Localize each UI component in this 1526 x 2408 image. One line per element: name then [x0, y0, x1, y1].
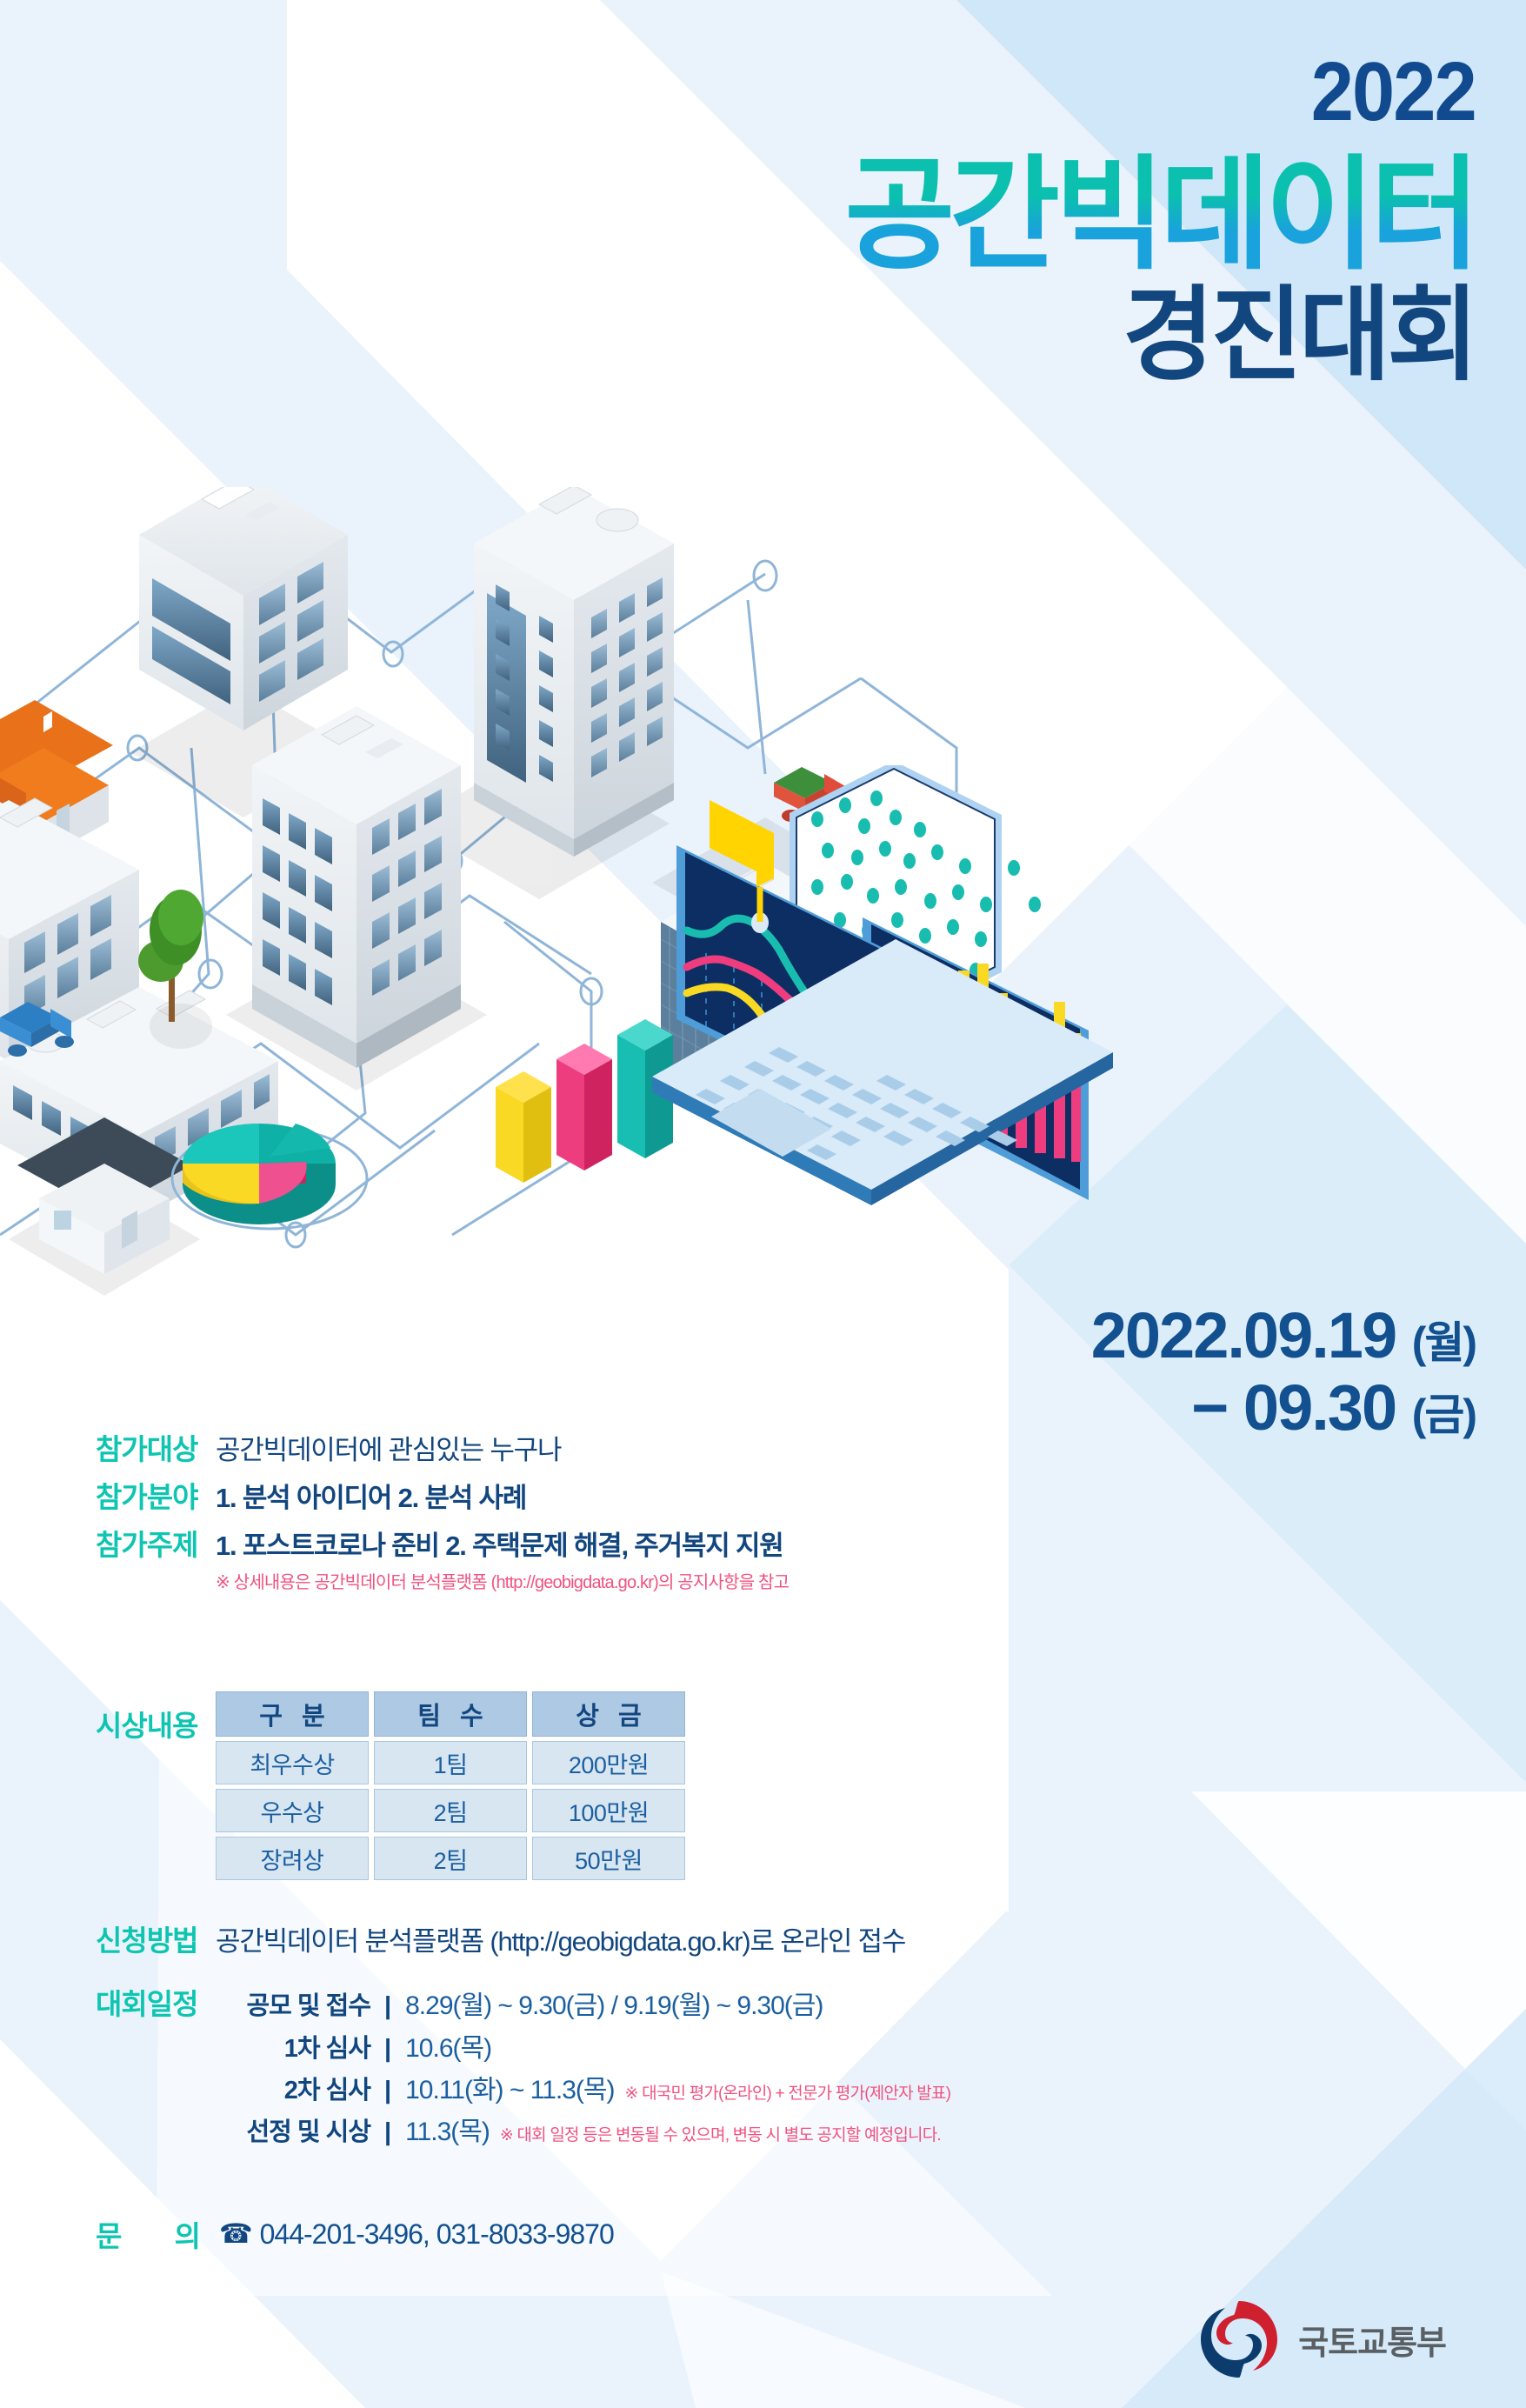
prize-col-teams: 팀 수: [374, 1691, 527, 1737]
schedule-label-text: 대회일정: [96, 1981, 197, 2023]
event-date-start-value: 2022.09.19: [1091, 1299, 1396, 1371]
schedule-key-4: 선정 및 시상: [216, 2111, 370, 2148]
ministry-name: 국토교통부: [1298, 2316, 1446, 2364]
prize-cell-category: 우수상: [216, 1789, 369, 1832]
prize-label: 시상내용: [96, 1687, 200, 1744]
prize-cell-teams: 2팀: [374, 1837, 527, 1880]
prize-cell-category: 장려상: [216, 1837, 369, 1880]
info-row-apply: 신청방법 공간빅데이터 분석플랫폼 (http://geobigdata.go.…: [0, 1918, 1526, 1959]
info-value-apply: 공간빅데이터 분석플랫폼 (http://geobigdata.go.kr)로 …: [216, 1919, 905, 1958]
schedule-divider-3: |: [384, 2077, 391, 2105]
schedule-note-4: ※ 대회 일정 등은 변동될 수 있으며, 변동 시 별도 공지할 예정입니다.: [500, 2122, 941, 2145]
prize-cell-amount: 200만원: [532, 1741, 685, 1784]
info-label-apply: 신청방법: [96, 1918, 200, 1959]
info-label-topic: 참가주제: [96, 1522, 200, 1564]
event-date-block: 2022.09.19 (월) − 09.30 (금): [1091, 1300, 1476, 1444]
schedule-key-1: 공모 및 접수: [216, 1985, 370, 2022]
table-row: 우수상 2팀 100만원: [216, 1789, 685, 1832]
schedule-label: 대회일정: [96, 1981, 200, 2023]
poster-title-sub: 경진대회: [845, 283, 1476, 390]
prize-cell-amount: 100만원: [532, 1789, 685, 1832]
schedule-row-1: 대회일정 공모 및 접수 | 8.29(월) ~ 9.30(금) / 9.19(…: [0, 1981, 950, 2023]
office-building-left: [139, 487, 348, 730]
schedule-section: 대회일정 공모 및 접수 | 8.29(월) ~ 9.30(금) / 9.19(…: [0, 1981, 950, 2151]
schedule-value-1: 8.29(월) ~ 9.30(금) / 9.19(월) ~ 9.30(금): [405, 1984, 823, 2022]
contact-section: 문 의 ☎ 044-201-3496, 031-8033-9870: [0, 2213, 614, 2255]
prize-col-category: 구 분: [216, 1691, 369, 1737]
title-block: 2022 공간빅데이터 경진대회: [825, 50, 1476, 390]
contact-label-char-2: 의: [175, 2213, 200, 2255]
info-value-audience: 공간빅데이터에 관심있는 누구나: [216, 1428, 561, 1467]
poster-title-main: 공간빅데이터: [845, 153, 1476, 279]
year-label: 2022: [877, 50, 1476, 134]
korea-government-taegeuk-logo: [1196, 2296, 1283, 2383]
schedule-value-4: 11.3(목): [405, 2110, 490, 2148]
event-date-start-dow: (월): [1412, 1318, 1476, 1367]
contact-phone-numbers: 044-201-3496, 031-8033-9870: [260, 2218, 614, 2251]
prize-cell-teams: 1팀: [374, 1741, 527, 1784]
prize-table-header-row: 구 분 팀 수 상 금: [216, 1691, 685, 1737]
prize-table: 구 분 팀 수 상 금 최우수상 1팀 200만원 우수상 2팀 100만원 장…: [210, 1687, 690, 1884]
table-row: 장려상 2팀 50만원: [216, 1837, 685, 1880]
info-label-apply-text: 신청방법: [96, 1918, 197, 1959]
schedule-row-4: 선정 및 시상 | 11.3(목) ※ 대회 일정 등은 변동될 수 있으며, …: [0, 2110, 950, 2148]
schedule-value-2: 10.6(목): [405, 2026, 491, 2064]
info-value-topic: 1. 포스트코로나 준비 2. 주택문제 해결, 주거복지 지원: [216, 1524, 783, 1563]
poster-canvas: 2022 공간빅데이터 경진대회 2022.09.19 (월) − 09.30 …: [0, 0, 1526, 2408]
schedule-row-3: 2차 심사 | 10.11(화) ~ 11.3(목) ※ 대국민 평가(온라인)…: [0, 2068, 950, 2106]
telephone-icon: ☎: [219, 2218, 253, 2250]
info-row-audience: 참가대상 공간빅데이터에 관심있는 누구나: [0, 1426, 1526, 1468]
event-date-start: 2022.09.19 (월): [1091, 1300, 1476, 1372]
info-label-field-text: 참가분야: [96, 1474, 197, 1516]
pie-chart-3d: [172, 1124, 367, 1229]
center-building: [252, 706, 461, 1068]
info-label-topic-text: 참가주제: [96, 1522, 197, 1564]
schedule-divider-4: |: [384, 2118, 391, 2147]
apply-section: 신청방법 공간빅데이터 분석플랫폼 (http://geobigdata.go.…: [0, 1918, 1526, 1965]
info-note-topic: ※ 상세내용은 공간빅데이터 분석플랫폼 (http://geobigdata.…: [216, 1568, 1526, 1593]
info-label-audience-text: 참가대상: [96, 1426, 197, 1468]
schedule-divider-2: |: [384, 2035, 391, 2064]
laptop-dashboard-illustration: [643, 765, 1200, 1217]
schedule-key-3: 2차 심사: [216, 2070, 370, 2106]
prize-cell-category: 최우수상: [216, 1741, 369, 1784]
info-section: 참가대상 공간빅데이터에 관심있는 누구나 참가분야 1. 분석 아이디어 2.…: [0, 1426, 1526, 1602]
schedule-row-2: 1차 심사 | 10.6(목): [0, 2026, 950, 2064]
prize-section: 시상내용 구 분 팀 수 상 금 최우수상 1팀 200만원 우수상 2팀: [0, 1687, 690, 1884]
info-row-topic: 참가주제 1. 포스트코로나 준비 2. 주택문제 해결, 주거복지 지원: [0, 1522, 1526, 1564]
contact-label: 문 의: [96, 2213, 200, 2255]
prize-cell-teams: 2팀: [374, 1789, 527, 1832]
info-label-field: 참가분야: [96, 1474, 200, 1516]
schedule-key-2: 1차 심사: [216, 2028, 370, 2064]
schedule-note-3: ※ 대국민 평가(온라인) + 전문가 평가(제안자 발표): [624, 2080, 950, 2104]
info-value-field: 1. 분석 아이디어 2. 분석 사례: [216, 1476, 526, 1515]
table-row: 최우수상 1팀 200만원: [216, 1741, 685, 1784]
footer-logo-block: 국토교통부: [1196, 2296, 1446, 2383]
schedule-value-3: 10.11(화) ~ 11.3(목): [405, 2068, 614, 2106]
info-label-audience: 참가대상: [96, 1426, 200, 1468]
schedule-divider-1: |: [384, 1992, 391, 2021]
prize-label-text: 시상내용: [96, 1703, 197, 1744]
contact-label-char-1: 문: [96, 2213, 121, 2255]
prize-cell-amount: 50만원: [532, 1837, 685, 1880]
prize-col-amount: 상 금: [532, 1691, 685, 1737]
info-row-field: 참가분야 1. 분석 아이디어 2. 분석 사례: [0, 1474, 1526, 1516]
